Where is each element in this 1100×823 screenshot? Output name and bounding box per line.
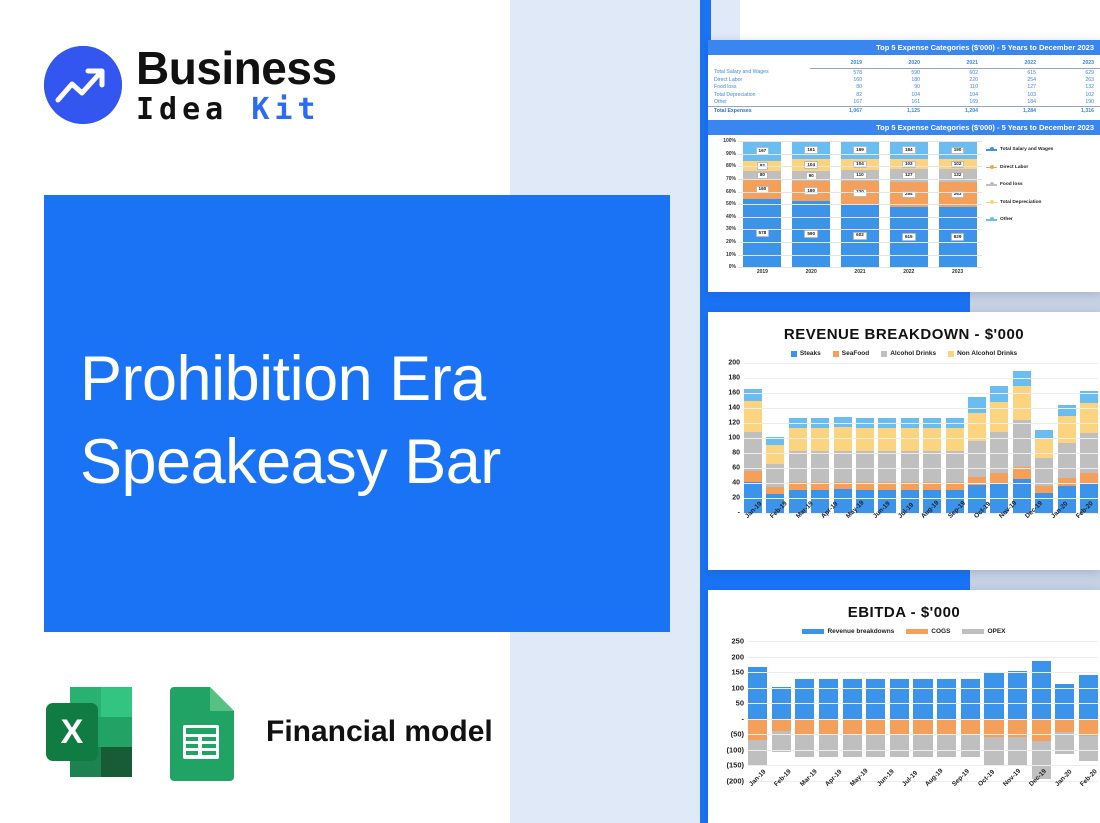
page-title-line2: Speakeasy Bar <box>80 421 640 504</box>
expense-table-title: Top 5 Expense Categories ($'000) - 5 Yea… <box>708 40 1100 55</box>
y-tick: 200 <box>731 652 744 661</box>
chart-x-axis: Jan-19Feb-19Mar-19Apr-19May-19Jun-19Jul-… <box>748 783 1098 790</box>
chart-bar <box>1080 391 1098 513</box>
ebitda-chart: 25020015010050-(50)(100)(150)(200) Jan-1… <box>708 637 1100 807</box>
y-tick: 100% <box>723 138 736 144</box>
table-row: Direct Labor160180220254263 <box>708 76 1100 83</box>
expense-table: 2019 2020 2021 2022 2023 Total Salary an… <box>708 59 1100 114</box>
ebitda-line <box>748 641 1098 823</box>
microsoft-excel-icon: X <box>40 683 146 781</box>
page-title-line1: Prohibition Era <box>80 338 640 421</box>
bar-value-label: 104 <box>804 161 818 169</box>
legend-item: Other <box>986 217 1098 222</box>
revenue-chart-title: REVENUE BREAKDOWN - $'000 <box>708 312 1100 343</box>
chart-plot-area <box>748 641 1098 781</box>
y-tick: 40% <box>726 214 736 220</box>
x-tick: 2023 <box>939 269 977 275</box>
bar-value-label: 169 <box>853 146 867 154</box>
x-tick: 2022 <box>890 269 928 275</box>
y-tick: 60% <box>726 189 736 195</box>
legend-item: Alcohol Drinks <box>881 350 936 357</box>
legend-swatch <box>986 202 997 204</box>
legend-label: COGS <box>931 628 950 635</box>
y-tick: 20% <box>726 239 736 245</box>
x-tick: 2019 <box>743 269 781 275</box>
y-tick: 40 <box>732 480 740 487</box>
y-tick: 60 <box>732 465 740 472</box>
legend-swatch <box>906 629 928 634</box>
revenue-preview-panel: REVENUE BREAKDOWN - $'000 SteaksSeaFoodA… <box>708 312 1100 570</box>
legend-item: Total Salary and Wages <box>986 147 1098 152</box>
table-row: Food loss8090110127132 <box>708 84 1100 91</box>
y-tick: 50 <box>736 699 744 708</box>
table-corner-cell <box>708 59 810 69</box>
y-tick: 30% <box>726 226 736 232</box>
y-tick: - <box>738 510 740 517</box>
y-tick: 140 <box>728 405 740 412</box>
x-tick: 2020 <box>792 269 830 275</box>
bar-value-label: 602 <box>853 232 867 240</box>
bar-value-label: 590 <box>804 230 818 238</box>
legend-swatch <box>833 351 839 357</box>
brand-kit-text: Kit <box>251 92 320 127</box>
chart-plot-area <box>744 363 1098 513</box>
brand-name-line1: Business <box>136 45 337 91</box>
y-tick: 160 <box>728 390 740 397</box>
legend-label: Non Alcohol Drinks <box>957 350 1017 357</box>
ebitda-preview-panel: EBITDA - $'000 Revenue breakdownsCOGSOPE… <box>708 590 1100 823</box>
ebitda-chart-legend: Revenue breakdownsCOGSOPEX <box>708 628 1100 635</box>
svg-text:X: X <box>61 713 84 751</box>
expense-chart-title: Top 5 Expense Categories ($'000) - 5 Yea… <box>708 120 1100 135</box>
legend-label: SeaFood <box>842 350 869 357</box>
y-tick: (50) <box>731 730 744 739</box>
y-tick: 180 <box>728 375 740 382</box>
chart-y-axis: 20018016014012010080604020- <box>714 363 740 513</box>
legend-swatch <box>948 351 954 357</box>
y-tick: 10% <box>726 252 736 258</box>
trending-up-arrow-icon <box>44 46 122 124</box>
panel-separator-2 <box>700 568 1100 590</box>
legend-item: OPEX <box>962 628 1005 635</box>
legend-item: Total Depreciation <box>986 200 1098 205</box>
brand-name-line2: Idea Kit <box>136 95 337 125</box>
legend-swatch <box>881 351 887 357</box>
y-tick: 120 <box>728 420 740 427</box>
legend-label: OPEX <box>987 628 1005 635</box>
y-tick: (100) <box>726 745 744 754</box>
y-tick: 80 <box>732 450 740 457</box>
x-tick: 2021 <box>841 269 879 275</box>
table-row: Total Depreciation82104104103102 <box>708 91 1100 98</box>
legend-item: Direct Labor <box>986 165 1098 170</box>
y-tick: - <box>742 714 745 723</box>
legend-item: COGS <box>906 628 950 635</box>
table-row: Total Salary and Wages578590602615629 <box>708 69 1100 77</box>
chart-bar <box>990 386 1008 513</box>
legend-label: Revenue breakdowns <box>827 628 894 635</box>
table-total-row: Total Expenses1,0671,1251,2041,2841,316 <box>708 106 1100 114</box>
legend-swatch <box>791 351 797 357</box>
legend-swatch <box>986 167 997 169</box>
y-tick: 100 <box>728 435 740 442</box>
y-tick: 70% <box>726 176 736 182</box>
legend-item: Steaks <box>791 350 821 357</box>
y-tick: 150 <box>731 668 744 677</box>
legend-swatch <box>802 629 824 634</box>
legend-item: Non Alcohol Drinks <box>948 350 1017 357</box>
table-col-2023: 2023 <box>1042 59 1100 69</box>
y-tick: 20 <box>732 495 740 502</box>
chart-legend: Total Salary and WagesDirect LaborFood l… <box>986 147 1098 235</box>
y-tick: (200) <box>726 777 744 786</box>
legend-label: Food loss <box>1000 182 1023 187</box>
preview-stack: Top 5 Expense Categories ($'000) - 5 Yea… <box>700 0 1100 823</box>
expense-stacked-chart: 100%90%80%70%60%50%40%30%20%10%0% 167828… <box>708 135 1100 292</box>
revenue-chart-legend: SteaksSeaFoodAlcohol DrinksNon Alcohol D… <box>708 350 1100 357</box>
legend-swatch <box>986 219 997 221</box>
legend-label: Total Salary and Wages <box>1000 147 1053 152</box>
y-tick: 80% <box>726 163 736 169</box>
bar-value-label: 80 <box>757 172 768 180</box>
legend-item: SeaFood <box>833 350 869 357</box>
chart-bar <box>968 397 986 513</box>
legend-swatch <box>986 184 997 186</box>
legend-label: Direct Labor <box>1000 165 1028 170</box>
bar-value-label: 220 <box>853 189 867 197</box>
chart-y-axis: 100%90%80%70%60%50%40%30%20%10%0% <box>710 141 736 267</box>
ebitda-chart-title: EBITDA - $'000 <box>708 590 1100 621</box>
page-title: Prohibition Era Speakeasy Bar <box>80 338 640 504</box>
legend-item: Food loss <box>986 182 1098 187</box>
y-tick: (150) <box>726 761 744 770</box>
format-label: Financial model <box>266 715 493 749</box>
table-col-2022: 2022 <box>984 59 1042 69</box>
table-header-row: 2019 2020 2021 2022 2023 <box>708 59 1100 69</box>
legend-label: Steaks <box>800 350 821 357</box>
brand-idea-text: Idea <box>136 92 228 127</box>
y-tick: 0% <box>729 264 736 270</box>
format-row: X Financial model <box>40 683 493 781</box>
bar-value-label: 615 <box>902 233 916 241</box>
legend-swatch <box>986 149 997 151</box>
bar-value-label: 629 <box>951 233 965 241</box>
chart-x-axis: 20192020202120222023 <box>738 269 982 275</box>
legend-item: Revenue breakdowns <box>802 628 894 635</box>
google-sheets-icon <box>164 683 238 781</box>
chart-bar <box>1013 371 1031 514</box>
y-tick: 200 <box>728 360 740 367</box>
legend-label: Total Depreciation <box>1000 200 1042 205</box>
y-tick: 50% <box>726 201 736 207</box>
y-tick: 250 <box>731 637 744 646</box>
table-col-2020: 2020 <box>868 59 926 69</box>
chart-plot-area: 1678280160578161104901805901691041102206… <box>738 141 982 267</box>
y-tick: 100 <box>731 683 744 692</box>
chart-y-axis: 25020015010050-(50)(100)(150)(200) <box>710 641 744 781</box>
legend-swatch <box>962 629 984 634</box>
expense-preview-panel: Top 5 Expense Categories ($'000) - 5 Yea… <box>708 40 1100 292</box>
chart-bar <box>1058 405 1076 513</box>
legend-label: Other <box>1000 217 1013 222</box>
legend-label: Alcohol Drinks <box>890 350 936 357</box>
revenue-breakdown-chart: 20018016014012010080604020- Jan-19Feb-19… <box>708 359 1100 549</box>
table-col-2019: 2019 <box>810 59 868 69</box>
chart-x-axis: Jan-19Feb-19Mar-19Apr-19May-19Jun-19Jul-… <box>744 515 1098 522</box>
panel-separator-1 <box>700 290 1100 312</box>
brand-logo: Business Idea Kit <box>44 45 337 125</box>
y-tick: 90% <box>726 151 736 157</box>
table-col-2021: 2021 <box>926 59 984 69</box>
table-row: Other167161169184190 <box>708 99 1100 107</box>
